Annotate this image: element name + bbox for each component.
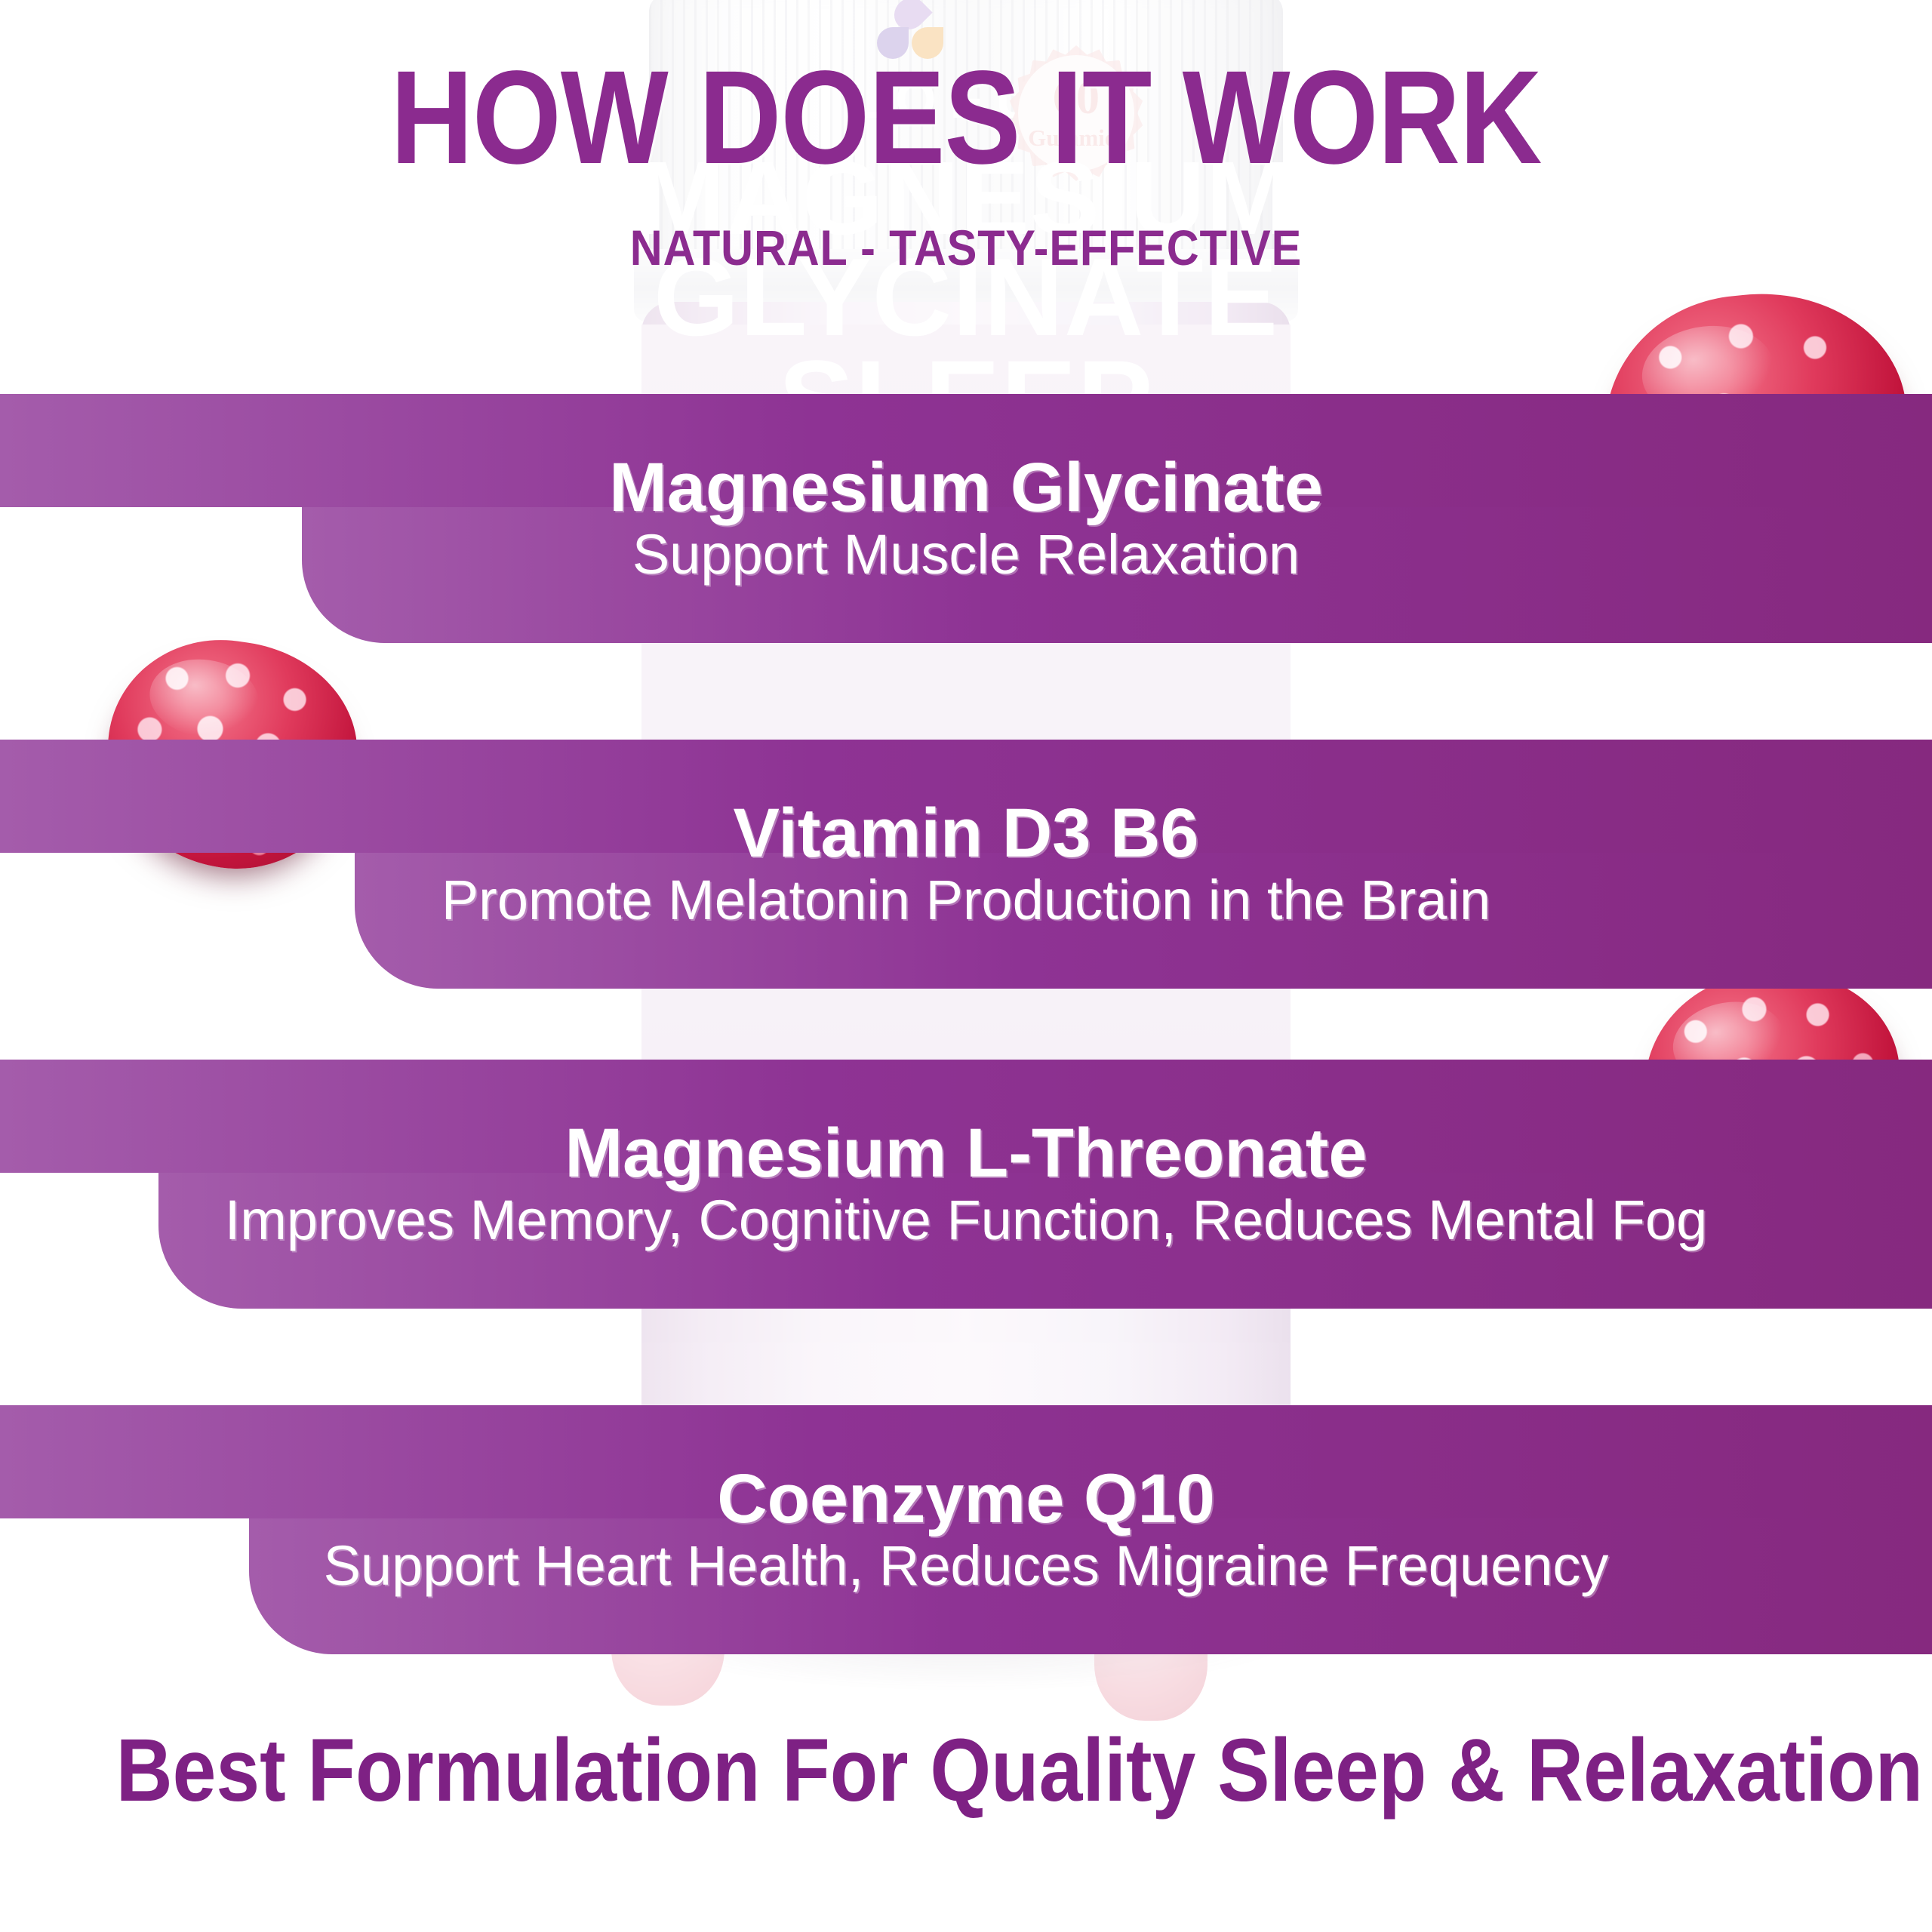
infographic-canvas: LOFUX 60 Gummies MAGNESIUM GLYCINATE SLE… — [0, 0, 1932, 1932]
ingredient-description: Improves Memory, Cognitive Function, Red… — [225, 1191, 1708, 1250]
ingredient-name: Magnesium Glycinate — [609, 453, 1323, 524]
ingredient-description: Promote Melatonin Production in the Brai… — [441, 871, 1491, 930]
footer-tagline: Best Formulation For Quality Sleep & Rel… — [116, 1719, 1817, 1822]
ingredient-description: Support Heart Health, Reduces Migraine F… — [324, 1537, 1609, 1595]
ingredient-description: Support Muscle Relaxation — [632, 525, 1300, 584]
ingredient-name: Vitamin D3 B6 — [734, 798, 1199, 869]
ingredient-name: Coenzyme Q10 — [717, 1464, 1215, 1535]
ingredient-name: Magnesium L-Threonate — [565, 1118, 1367, 1189]
page-title: HOW DOES IT WORK — [135, 54, 1797, 182]
page-subtitle: NATURAL - TASTY-EFFECTIVE — [97, 219, 1835, 276]
